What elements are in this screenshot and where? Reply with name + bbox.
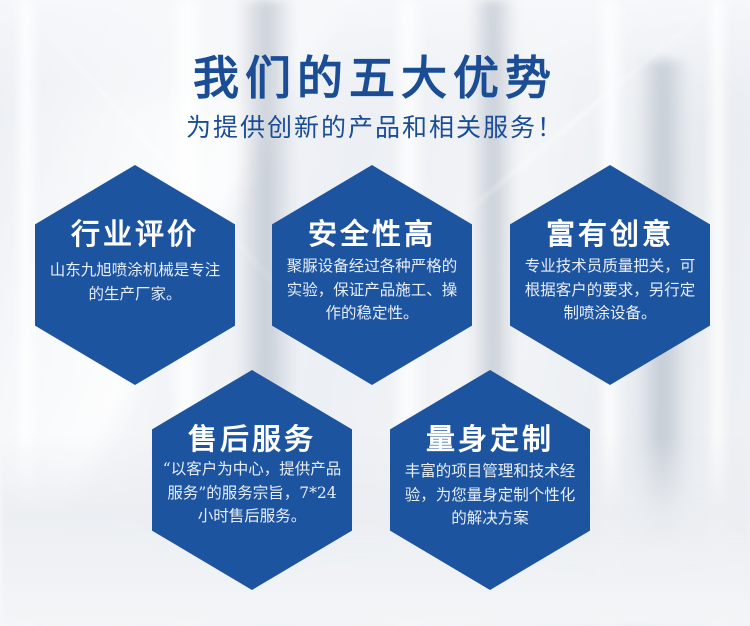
advantage-description: “以客户为中心，提供产品服务”的服务宗旨，7*24小时售后服务。 xyxy=(161,458,343,529)
advantage-description: 丰富的项目管理和技术经验，为您量身定制个性化的解决方案 xyxy=(399,460,581,531)
advantage-title: 富有创意 xyxy=(510,211,710,253)
advantage-title: 行业评价 xyxy=(35,211,235,253)
advantage-description: 聚脲设备经过各种严格的实验，保证产品施工、操作的稳定性。 xyxy=(281,255,463,326)
advantage-description: 专业技术员质量把关，可根据客户的要求，另行定制喷涂设备。 xyxy=(519,255,701,326)
page-title: 我们的五大优势 xyxy=(0,42,750,108)
advantage-title: 安全性高 xyxy=(272,211,472,253)
page-subtitle: 为提供创新的产品和相关服务！ xyxy=(0,108,750,144)
advantage-description: 山东九旭喷涂机械是专注的生产厂家。 xyxy=(44,259,226,306)
advantage-title: 量身定制 xyxy=(390,416,590,458)
advantage-title: 售后服务 xyxy=(152,416,352,458)
promo-banner: 我们的五大优势 为提供创新的产品和相关服务！ 行业评价 山东九旭喷涂机械是专注的… xyxy=(0,0,750,626)
background-floor xyxy=(0,436,750,626)
